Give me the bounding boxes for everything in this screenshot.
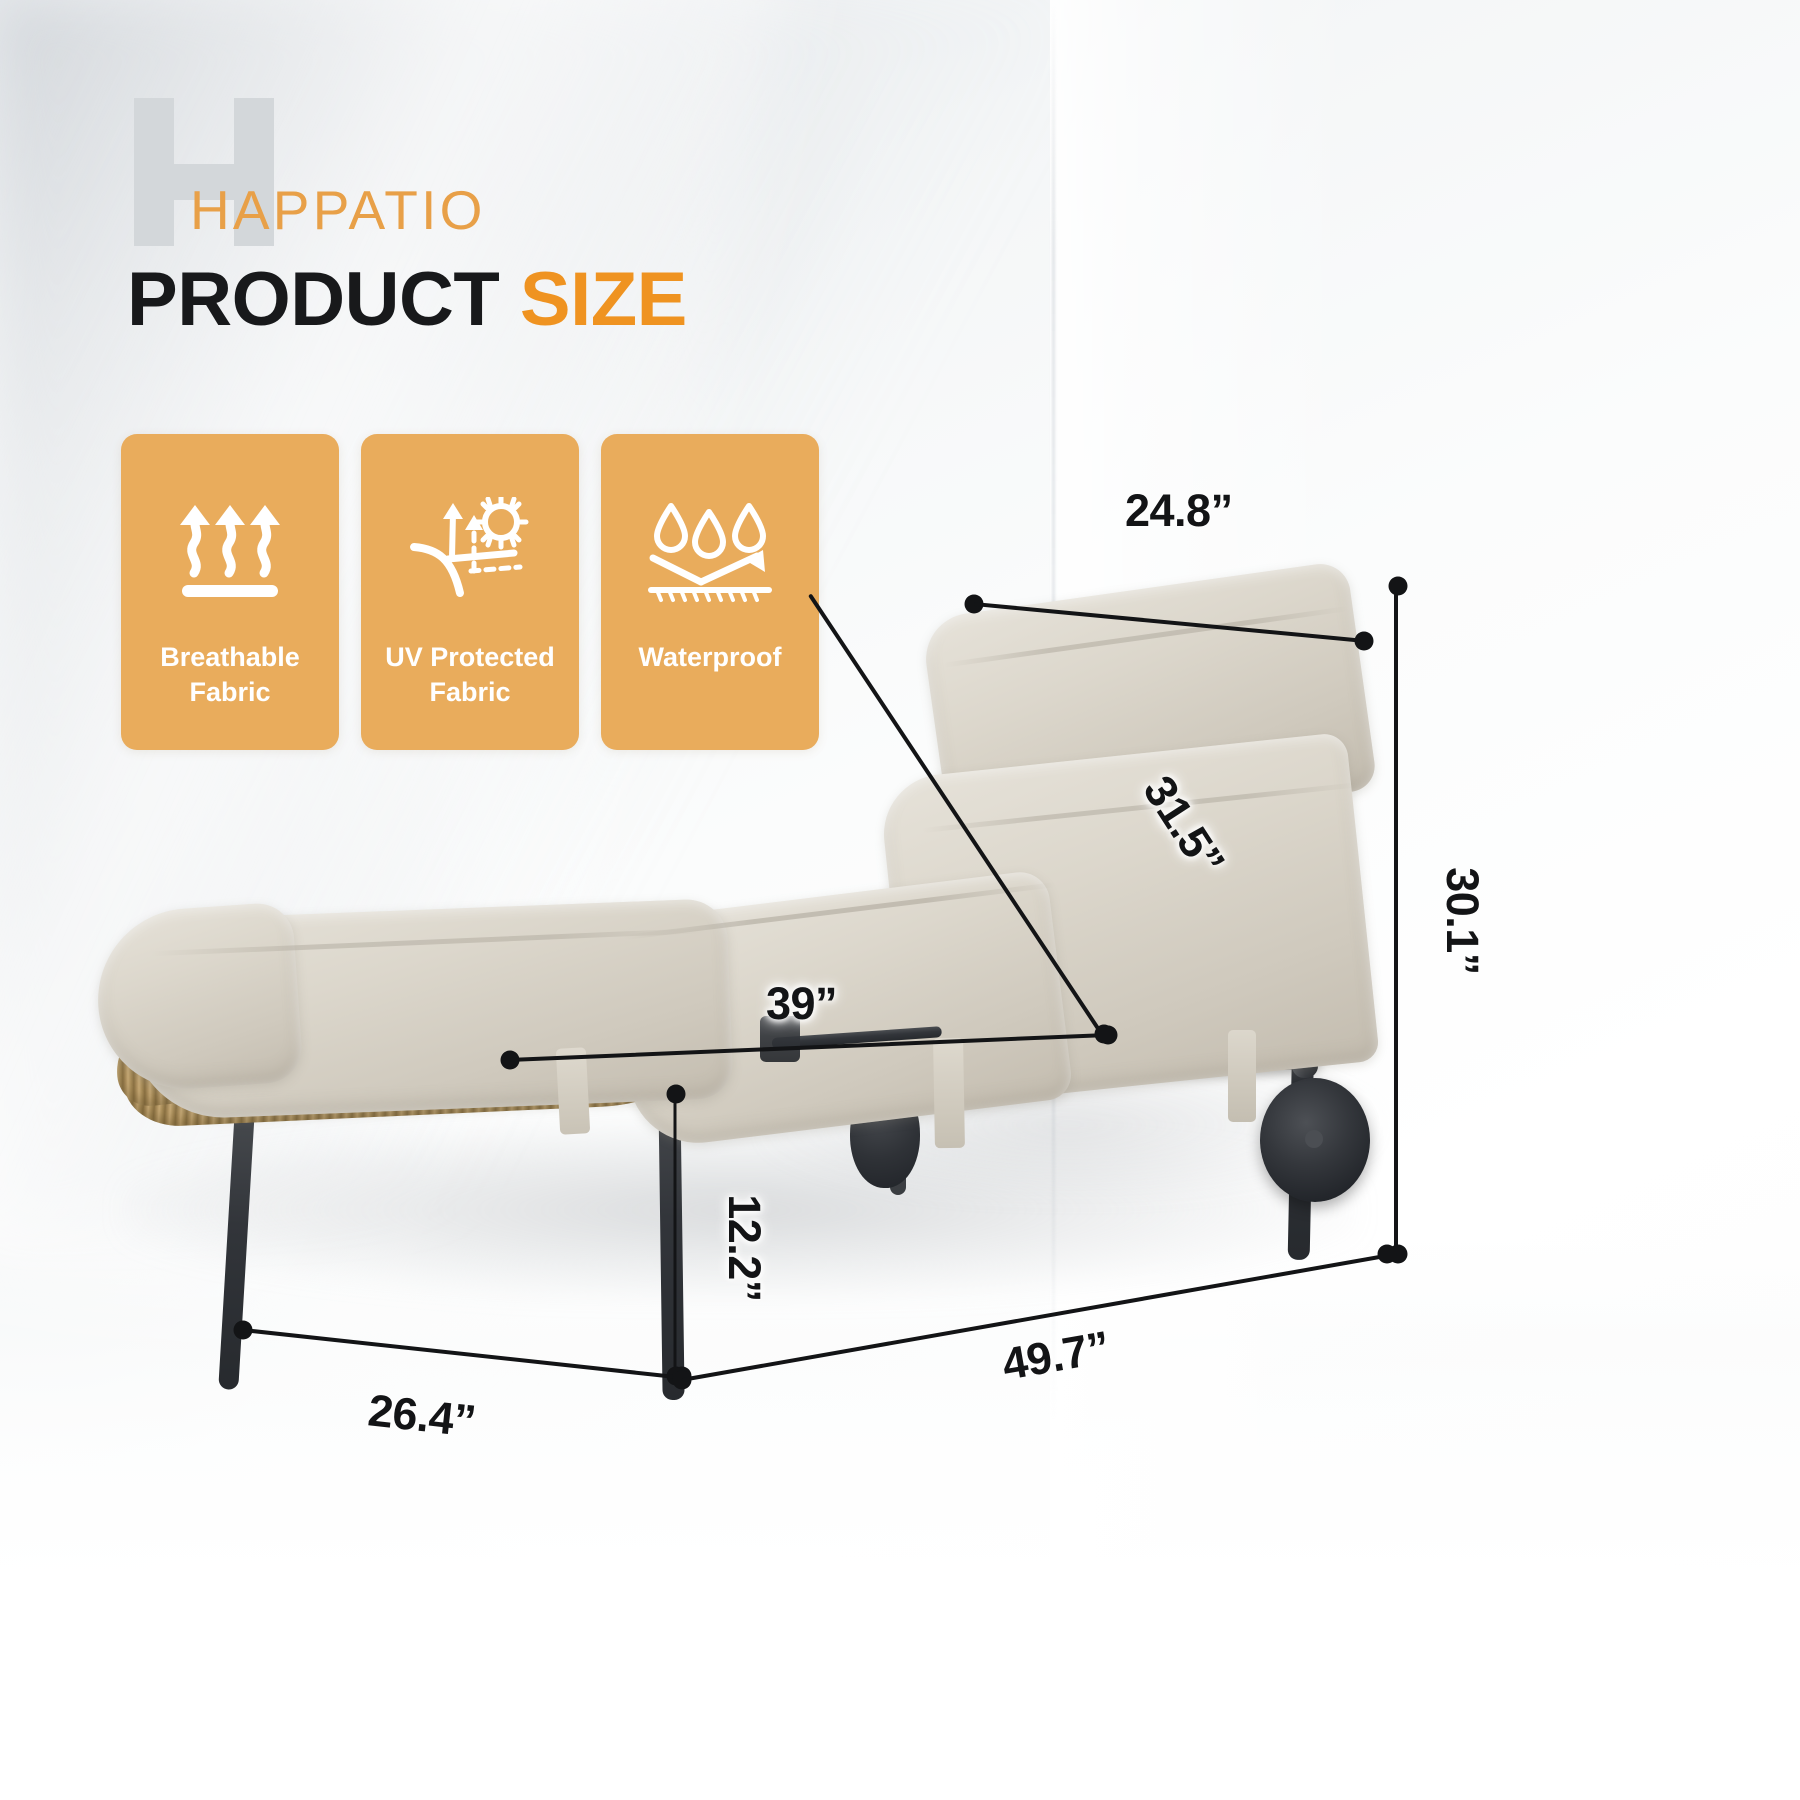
product-image-chaise-lounge bbox=[60, 430, 1480, 1500]
page-title: PRODUCT SIZE bbox=[127, 262, 687, 338]
cushion-strap-front bbox=[556, 1047, 590, 1134]
dim-line-overall-height bbox=[1394, 588, 1398, 1256]
dim-line-seat-height bbox=[674, 1096, 677, 1378]
dim-endpoint-overall-length-right bbox=[1378, 1245, 1397, 1264]
dim-label-overall-height: 30.1” bbox=[1436, 867, 1488, 975]
dim-label-seat-length: 39” bbox=[766, 978, 837, 1030]
dim-endpoint-overall-height-top bbox=[1389, 577, 1408, 596]
cushion-strap-mid bbox=[933, 1038, 965, 1149]
wheel-rear-hub bbox=[1305, 1130, 1323, 1148]
cushion-strap-rear bbox=[1228, 1030, 1256, 1122]
brand-logo: HAPPATIO bbox=[124, 92, 644, 252]
dim-endpoint-seat-length-right bbox=[1099, 1026, 1118, 1045]
dim-label-backrest-width: 24.8” bbox=[1125, 485, 1233, 537]
brand-wordmark: HAPPATIO bbox=[190, 178, 486, 242]
page-title-accent: SIZE bbox=[520, 257, 687, 342]
dim-endpoint-backrest-width-right bbox=[1355, 632, 1374, 651]
page-title-primary: PRODUCT bbox=[127, 257, 499, 342]
dim-label-seat-height: 12.2” bbox=[718, 1194, 770, 1302]
